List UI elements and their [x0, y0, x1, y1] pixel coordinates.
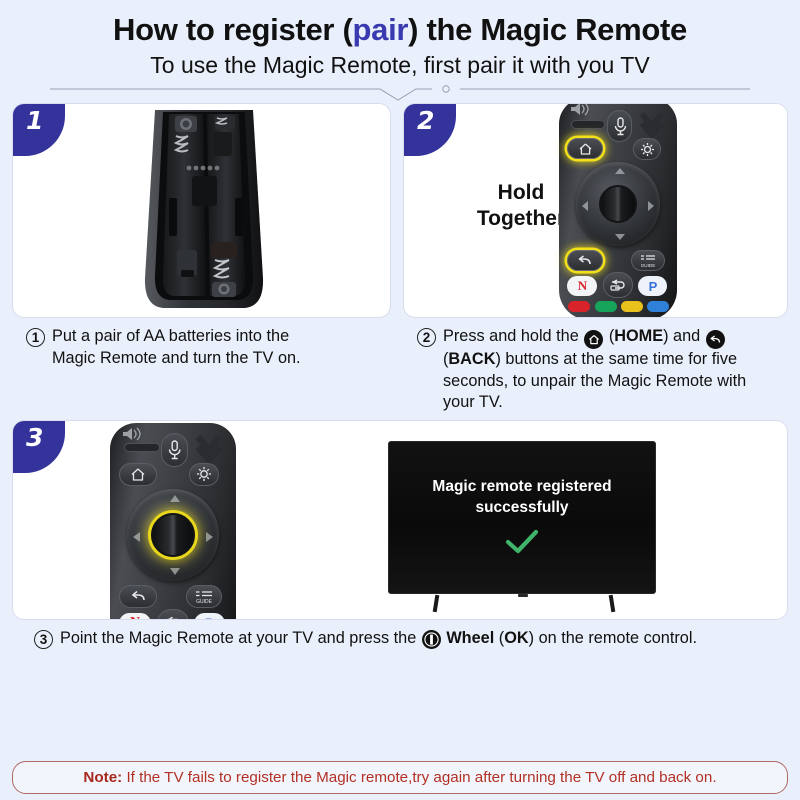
netflix-label: N [130, 615, 140, 620]
note-label: Note: [83, 769, 122, 786]
step-1-block: 1 [12, 103, 391, 414]
mic-button[interactable] [607, 110, 632, 142]
svg-text:GUIDE: GUIDE [641, 263, 656, 268]
color-button-green[interactable] [595, 301, 617, 312]
step-3-caption-text: Point the Magic Remote at your TV and pr… [60, 628, 697, 650]
tv-logo-nub [518, 594, 528, 597]
step-1-caption-line-1: Put a pair of AA batteries into the [52, 327, 289, 345]
settings-gear-button[interactable] [189, 463, 219, 486]
step-3-caption-number: 3 [34, 630, 53, 649]
back-button[interactable] [119, 585, 157, 608]
step-2-caption: 2 Press and hold the (HOME) and (BACK) b… [403, 318, 788, 414]
ok-wheel-button[interactable] [151, 513, 195, 557]
mic-button[interactable] [161, 433, 188, 467]
step-2-badge-number: 2 [417, 108, 434, 133]
step-3-badge-number: 3 [26, 425, 43, 450]
dpad-right-icon[interactable] [648, 201, 654, 211]
guide-icon: GUIDE [637, 253, 659, 268]
header: How to register (pair) the Magic Remote … [12, 8, 788, 103]
page-subtitle: To use the Magic Remote, first pair it w… [12, 52, 788, 80]
netflix-button[interactable]: N [567, 276, 597, 296]
back-button[interactable] [567, 250, 603, 271]
prime-button[interactable]: P [194, 613, 225, 620]
color-button-red[interactable] [568, 301, 590, 312]
step-1-caption-line-2: Magic Remote and turn the TV on. [52, 349, 301, 367]
divider-ornament [12, 81, 788, 103]
tv-leg-left [433, 595, 440, 612]
prime-label: P [205, 615, 214, 620]
battery-compartment-image [129, 110, 279, 315]
dpad-down-icon[interactable] [170, 568, 180, 575]
magic-remote-graphic-step3: GUIDE N P [110, 423, 236, 620]
step-1-badge: 1 [13, 104, 65, 156]
dpad-left-icon[interactable] [582, 201, 588, 211]
caption-2-home-label: HOME [614, 327, 663, 345]
caption-2-seg-c: ) and [663, 327, 705, 345]
netflix-label: N [578, 278, 587, 294]
tv-screen: Magic remote registered successfully [388, 441, 656, 594]
dpad-down-icon[interactable] [615, 234, 625, 240]
prime-label: P [649, 279, 658, 294]
dpad-up-icon[interactable] [615, 168, 625, 174]
gear-icon [196, 466, 212, 482]
step-3-block: 3 [12, 420, 788, 650]
infographic-page: How to register (pair) the Magic Remote … [0, 0, 800, 800]
green-checkmark-icon [502, 527, 542, 557]
guide-button[interactable]: GUIDE [631, 250, 665, 271]
wheel-icon [422, 630, 441, 649]
settings-gear-button[interactable] [633, 138, 661, 160]
step-1-card[interactable]: 1 [12, 103, 391, 318]
volume-chevron-button[interactable] [195, 433, 225, 465]
color-button-blue[interactable] [647, 301, 669, 312]
gear-icon [640, 142, 655, 157]
magic-remote-graphic: GUIDE N P [559, 103, 677, 318]
caption-2-seg-b: ( [604, 327, 614, 345]
step-2-badge: 2 [404, 104, 456, 156]
step-1-caption-number: 1 [26, 328, 45, 347]
step-1-caption: 1 Put a pair of AA batteries into the Ma… [12, 318, 391, 369]
home-icon [578, 142, 593, 156]
dpad-wheel[interactable] [127, 489, 219, 581]
caption-3-ok-label: OK [504, 629, 528, 647]
steps-row-top: 1 [12, 103, 788, 414]
hold-line-1: Hold [498, 181, 545, 204]
caption-3-wheel-label: Wheel [442, 629, 499, 647]
dpad-up-icon[interactable] [170, 495, 180, 502]
mic-icon [613, 116, 627, 136]
tv-message-line-2: successfully [475, 498, 568, 519]
step-2-block: 2 Hold Together [403, 103, 788, 414]
step-2-caption-text: Press and hold the (HOME) and (BACK) but… [443, 326, 782, 414]
dpad-right-icon[interactable] [206, 532, 213, 542]
back-icon [577, 254, 593, 267]
note-text: If the TV fails to register the Magic re… [122, 769, 716, 786]
input-button[interactable] [157, 609, 189, 620]
input-button[interactable] [603, 272, 633, 298]
svg-text:GUIDE: GUIDE [196, 599, 213, 604]
title-part-2: ) the Magic Remote [408, 12, 687, 47]
step-3-caption: 3 Point the Magic Remote at your TV and … [12, 620, 788, 650]
input-icon [609, 278, 627, 292]
step-3-card[interactable]: 3 [12, 420, 788, 620]
caption-3-seg-a: Point the Magic Remote at your TV and pr… [60, 629, 421, 647]
caption-2-seg-a: Press and hold the [443, 327, 583, 345]
step-2-caption-number: 2 [417, 328, 436, 347]
title-part-1: How to register ( [113, 12, 352, 47]
home-button[interactable] [119, 463, 157, 486]
netflix-button[interactable]: N [119, 613, 151, 620]
tv-message-line-1: Magic remote registered [432, 477, 611, 498]
dpad-wheel[interactable] [576, 162, 660, 246]
input-icon [164, 615, 183, 620]
divider-icon [50, 81, 750, 101]
dpad-left-icon[interactable] [133, 532, 140, 542]
caption-2-back-label: BACK [448, 350, 495, 368]
caption-3-seg-c: ) on the remote control. [529, 629, 697, 647]
guide-button[interactable]: GUIDE [186, 585, 222, 608]
tv-leg-right [609, 595, 616, 612]
title-accent-pair: pair [353, 12, 409, 47]
note-bar: Note: If the TV fails to register the Ma… [12, 761, 788, 794]
mute-icon [120, 425, 142, 443]
guide-icon: GUIDE [192, 588, 216, 604]
back-icon [706, 330, 725, 349]
step-1-caption-text: Put a pair of AA batteries into the Magi… [52, 326, 301, 369]
home-icon [130, 467, 146, 482]
ok-wheel-button[interactable] [599, 185, 637, 223]
tv-graphic: Magic remote registered successfully [388, 441, 658, 611]
ir-bar [124, 443, 160, 452]
color-button-yellow[interactable] [621, 301, 643, 312]
step-1-badge-number: 1 [26, 108, 43, 133]
hold-line-2: Together [477, 207, 565, 230]
mute-icon [568, 103, 590, 118]
step-2-card[interactable]: 2 Hold Together [403, 103, 788, 318]
ir-bar [571, 120, 605, 129]
mic-icon [167, 439, 182, 460]
prime-button[interactable]: P [638, 276, 667, 296]
page-title: How to register (pair) the Magic Remote [12, 12, 788, 48]
home-button[interactable] [567, 138, 603, 159]
volume-chevron-button[interactable] [639, 110, 667, 140]
home-icon [584, 330, 603, 349]
step-3-badge: 3 [13, 421, 65, 473]
back-icon [130, 589, 147, 603]
